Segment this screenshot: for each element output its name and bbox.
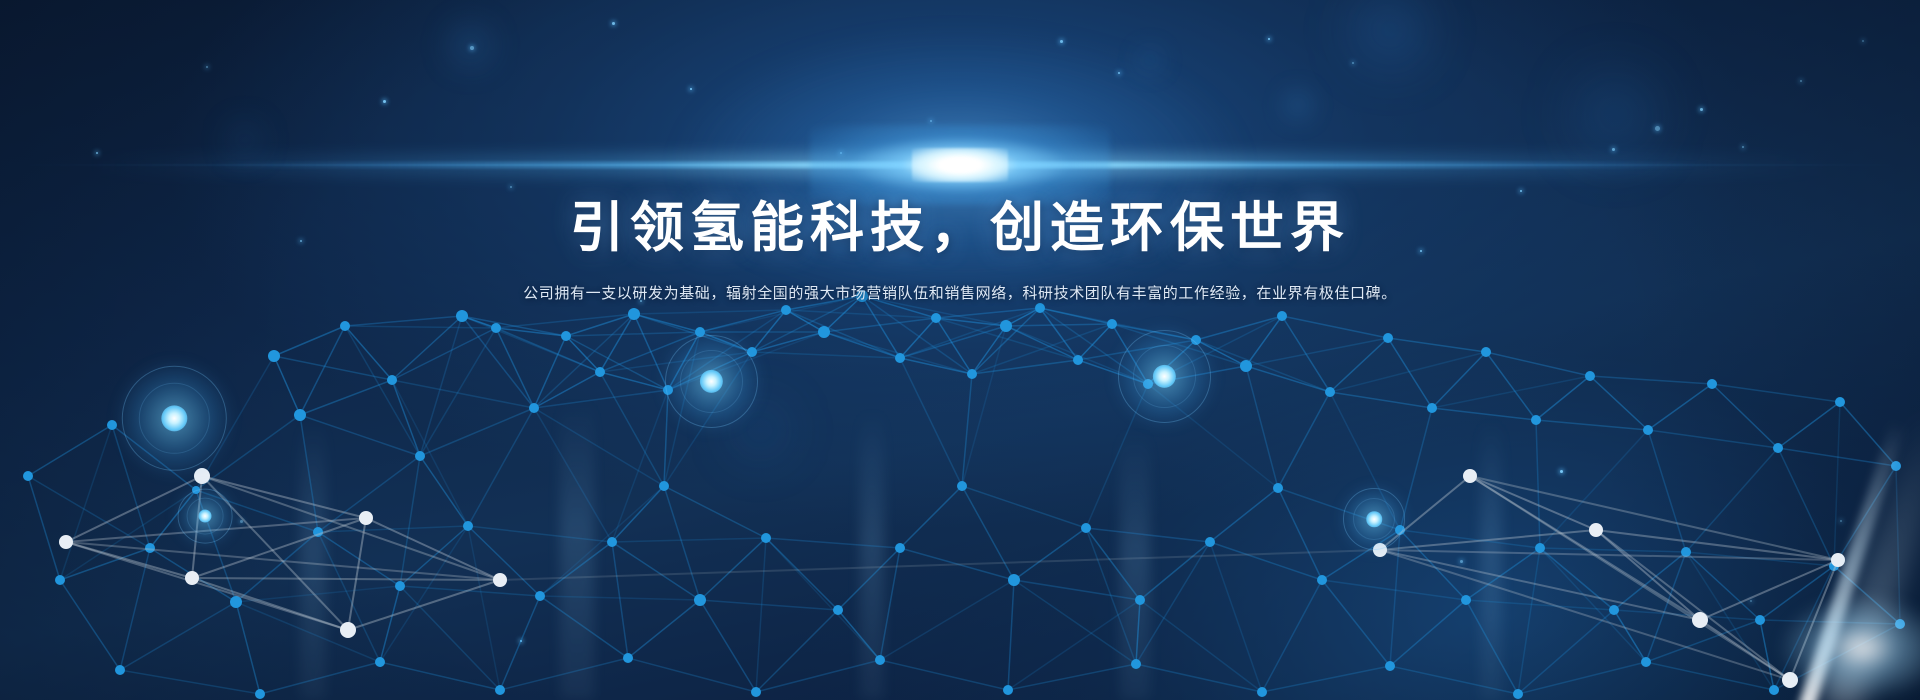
network-link [192,578,500,580]
bokeh-blob [444,19,496,71]
hero-subtitle: 公司拥有一支以研发为基础，辐射全国的强大市场营销队伍和销售网络，科研技术团队有丰… [0,282,1920,303]
sparkle-particle [1060,40,1063,43]
sparkle-particle [1520,190,1522,192]
sparkle-particle [1800,80,1802,82]
bokeh-blob [1563,63,1667,167]
network-node [1782,672,1798,688]
bokeh-blob [1344,0,1436,76]
network-node [1831,553,1845,567]
network-node [1373,543,1387,557]
sparkle-particle [1742,146,1744,148]
network-node [493,573,507,587]
sparkle-particle [1862,40,1864,42]
flare-streak-main [210,162,1710,169]
network-link [1596,530,1700,620]
hero-copy: 引领氢能科技，创造环保世界 公司拥有一支以研发为基础，辐射全国的强大市场营销队伍… [0,198,1920,303]
network-link [1700,620,1790,680]
flare-core-inner [912,148,1008,182]
network-node [1463,469,1477,483]
sparkle-particle [383,100,386,103]
network-link [1470,476,1790,680]
page-title: 引领氢能科技，创造环保世界 [0,198,1920,258]
bokeh-blob [223,118,267,162]
network-link [1470,476,1838,560]
sparkle-particle [96,152,98,154]
network-node [1692,612,1708,628]
network-link [1380,550,1790,680]
network-link [1470,476,1596,530]
sparkle-particle [1612,148,1615,151]
sparkle-particle [1655,126,1660,131]
sparkle-particle [510,186,512,188]
network-link [192,518,366,578]
lens-flare-burst [0,120,1920,210]
flare-streak-wide [85,154,1835,176]
network-link [202,476,366,518]
bokeh-blob [1134,44,1166,76]
sparkle-particle [1118,72,1120,74]
network-node [340,622,356,638]
network-link [348,518,366,630]
network-node [185,571,199,585]
flare-core-outer [810,125,1110,205]
flare-streak-thin [10,164,1910,166]
sparkle-particle [612,22,615,25]
sparkle-particle [470,46,474,50]
sparkle-particle [690,88,692,90]
particle-network-foreground [0,280,1920,700]
network-link [66,518,366,542]
network-link [1596,530,1790,680]
network-link [192,476,202,578]
sparkle-particle [206,66,208,68]
hero-banner: 引领氢能科技，创造环保世界 公司拥有一支以研发为基础，辐射全国的强大市场营销队伍… [0,0,1920,700]
sparkle-particle [840,152,842,154]
network-node [1589,523,1603,537]
network-node [359,511,373,525]
sparkle-particle [1352,62,1354,64]
network-node [59,535,73,549]
bokeh-blob [1280,87,1316,123]
network-node [194,468,210,484]
network-link [348,580,500,630]
sparkle-particle [1268,38,1270,40]
network-link [500,550,1380,580]
sparkle-particle [1700,108,1703,111]
network-link [1380,476,1470,550]
sparkle-particle [930,120,932,122]
network-link [1380,530,1596,550]
network-link [1380,550,1700,620]
